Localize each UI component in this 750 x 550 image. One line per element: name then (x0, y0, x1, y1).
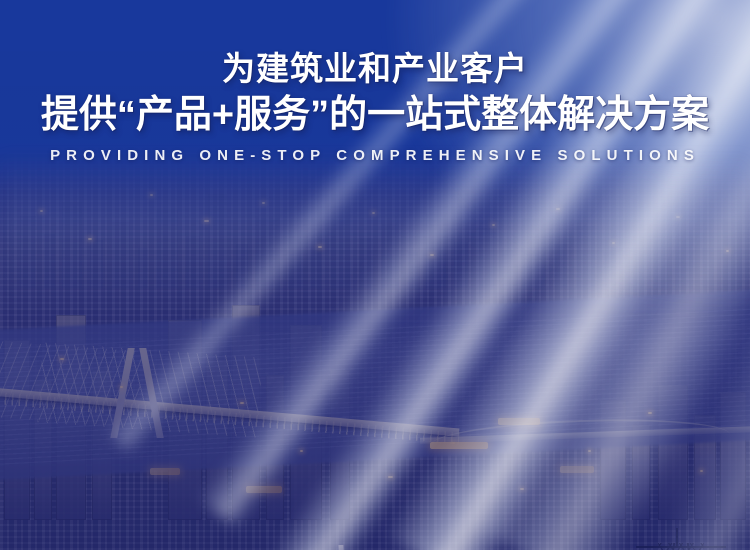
headline-line-2: 提供“产品+服务”的一站式整体解决方案 (0, 96, 750, 134)
headline-line-1: 为建筑业和产业客户 (0, 52, 750, 85)
headline-subtitle: PROVIDING ONE-STOP COMPREHENSIVE SOLUTIO… (0, 147, 750, 164)
headline-block: 为建筑业和产业客户 提供“产品+服务”的一站式整体解决方案 PROVIDING … (0, 52, 750, 164)
hero-banner: 为建筑业和产业客户 提供“产品+服务”的一站式整体解决方案 PROVIDING … (0, 0, 750, 550)
